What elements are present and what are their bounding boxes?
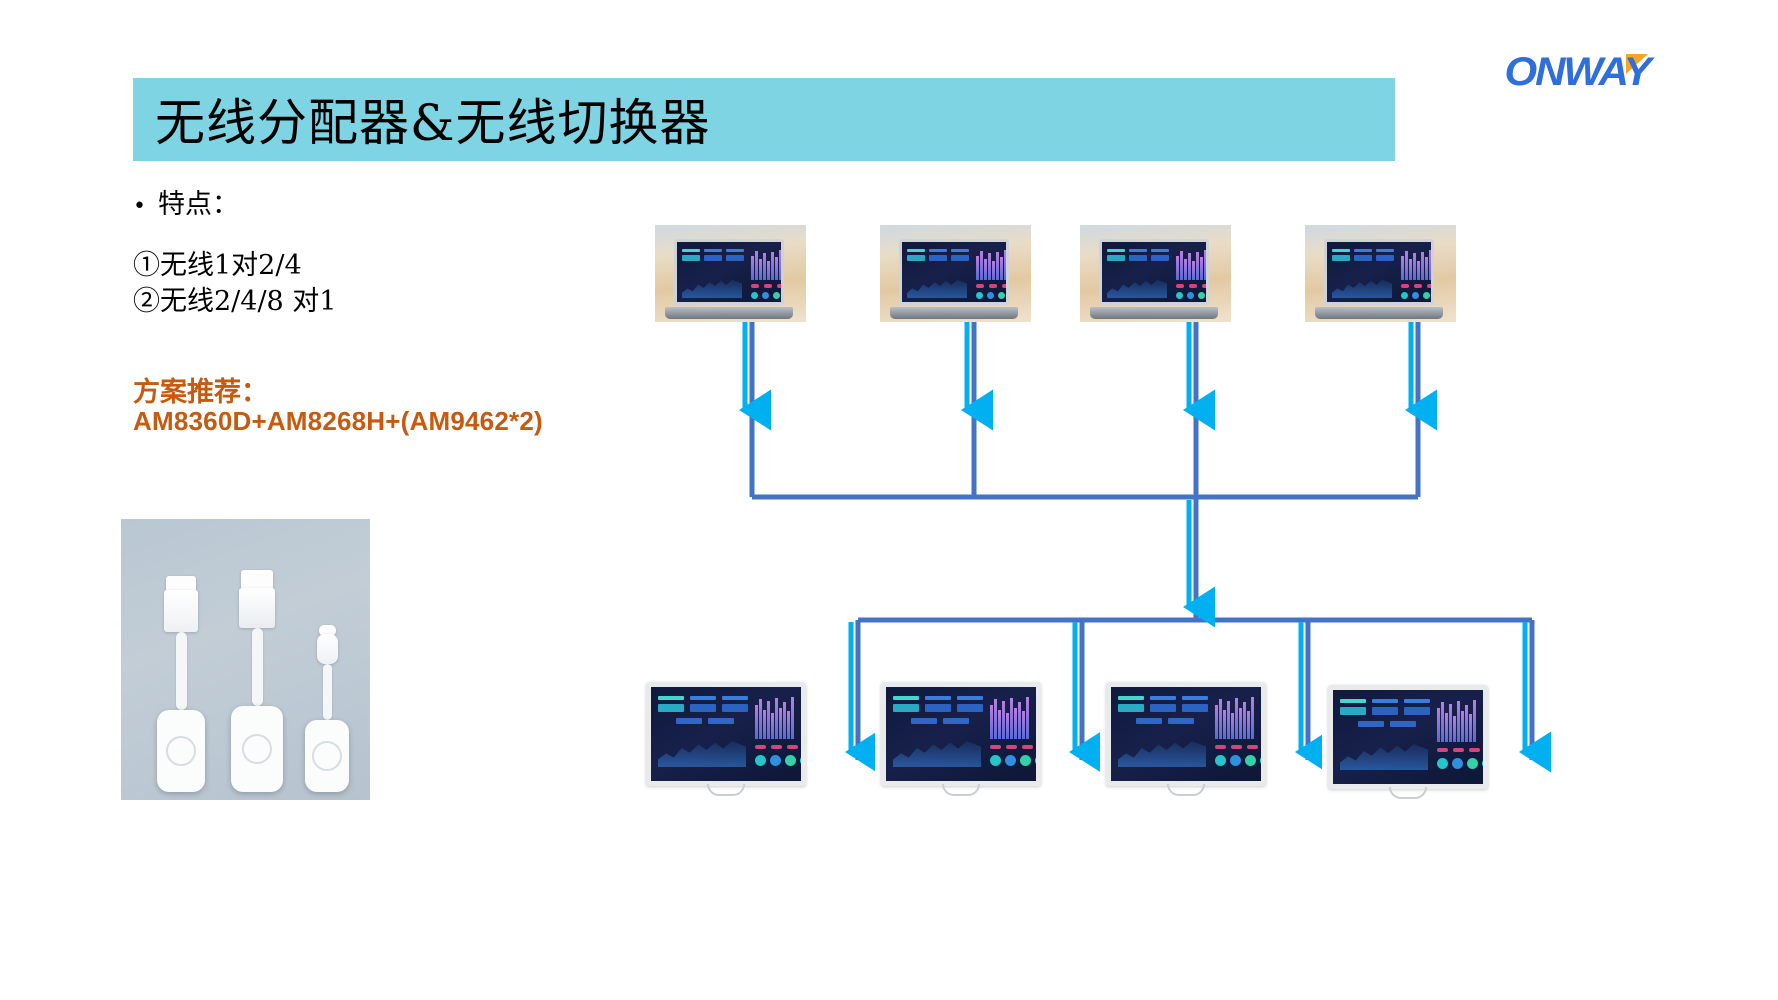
display-dashboard-art (651, 687, 801, 781)
laptop-base (665, 307, 793, 319)
sink-device-display-2 (875, 672, 1047, 800)
display-dashboard-art (1111, 687, 1261, 781)
laptop-base (890, 307, 1018, 319)
laptop-base (1315, 307, 1443, 319)
display-stand (1389, 787, 1427, 799)
connection-diagram (0, 0, 1778, 1000)
source-device-laptop-1 (655, 225, 806, 322)
display-stand (707, 784, 745, 796)
laptop-screen (674, 239, 784, 305)
laptop-screen (1324, 239, 1434, 305)
laptop-dashboard-art (1327, 242, 1431, 302)
display-stand (1167, 784, 1205, 796)
laptop-screen (1099, 239, 1209, 305)
laptop-base (1090, 307, 1218, 319)
sink-device-display-4 (1322, 675, 1494, 803)
display-dashboard-art (1333, 690, 1483, 784)
upper-bus (752, 318, 1418, 497)
sink-device-display-3 (1100, 672, 1272, 800)
source-device-laptop-3 (1080, 225, 1231, 322)
display-bezel (1106, 682, 1266, 786)
laptop-dashboard-art (1102, 242, 1206, 302)
display-dashboard-art (886, 687, 1036, 781)
display-bezel (646, 682, 806, 786)
source-device-laptop-4 (1305, 225, 1456, 322)
laptop-dashboard-art (902, 242, 1006, 302)
sink-device-display-1 (640, 672, 812, 800)
source-arrows (745, 320, 1411, 410)
source-device-laptop-2 (880, 225, 1031, 322)
display-stand (942, 784, 980, 796)
laptop-dashboard-art (677, 242, 781, 302)
display-bezel (881, 682, 1041, 786)
display-bezel (1328, 685, 1488, 789)
laptop-screen (899, 239, 1009, 305)
